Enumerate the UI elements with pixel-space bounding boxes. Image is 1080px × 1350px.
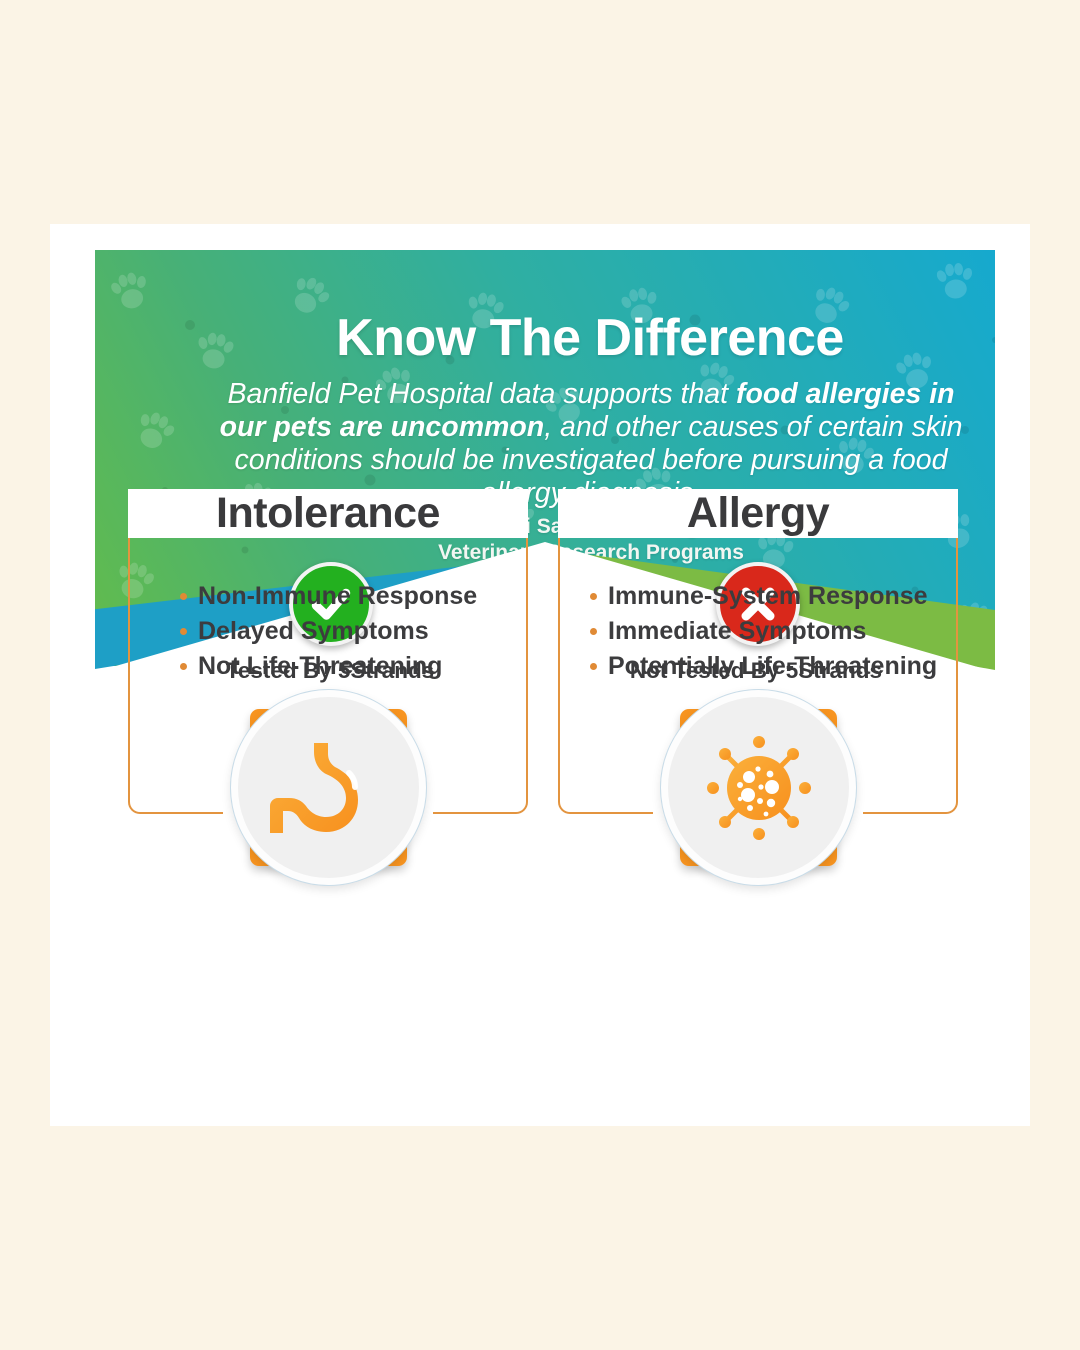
list-item: Delayed Symptoms [176,614,576,648]
page-title: Know The Difference [140,308,995,368]
intolerance-icon-disc [231,690,426,885]
list-item: Immediate Symptoms [586,614,986,648]
panel-title-allergy: Allergy [558,489,958,538]
panel-allergy: Allergy Immune-System Response Immediate… [558,507,958,812]
virus-icon [700,729,818,847]
stomach-icon [270,729,388,847]
panel-intolerance: Intolerance Non-Immune Response Delayed … [128,507,528,812]
list-item: Not Life-Threatening [176,649,576,683]
infographic-card: Know The Difference Banfield Pet Hospita… [50,224,1030,1126]
intolerance-bullet-list: Non-Immune Response Delayed Symptoms Not… [128,579,576,684]
panel-title-intolerance: Intolerance [128,489,528,538]
list-item: Immune-System Response [586,579,986,613]
quote-part-1: Banfield Pet Hospital data supports that [227,378,736,410]
allergy-bullet-list: Immune-System Response Immediate Symptom… [558,579,986,684]
list-item: Potentially Life-Threatening [586,649,986,683]
list-item: Non-Immune Response [176,579,576,613]
allergy-icon-disc [661,690,856,885]
